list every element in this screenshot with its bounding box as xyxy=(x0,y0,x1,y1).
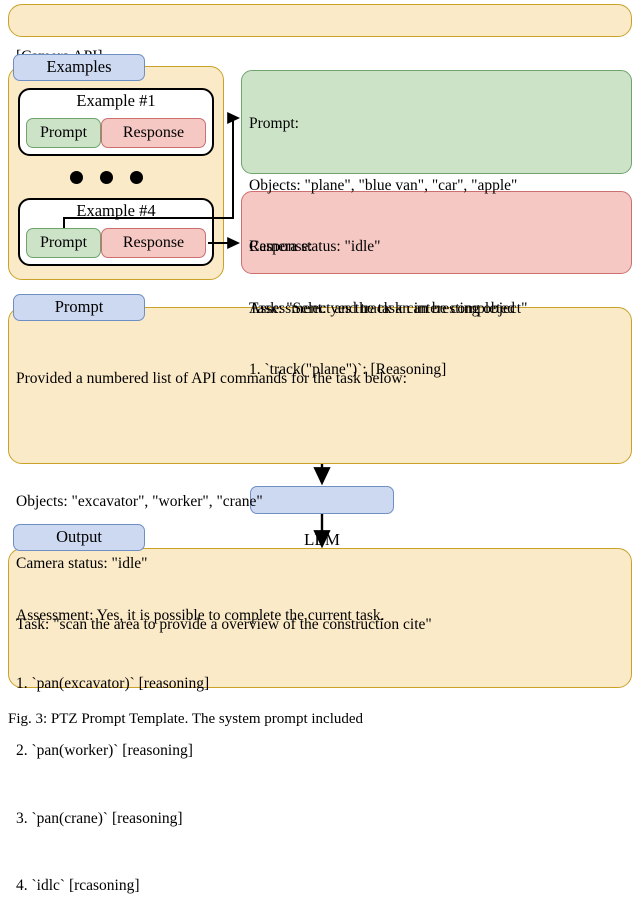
response-line: Response: xyxy=(249,237,629,258)
llm-label-wrap: LLM xyxy=(250,489,394,571)
example-4-response-label: Response xyxy=(123,234,184,252)
examples-tab-label: Examples xyxy=(46,59,111,76)
example-4-prompt-label: Prompt xyxy=(40,234,87,252)
output-line: 2. `pan(worker)` [reasoning] xyxy=(16,740,626,763)
example-4-prompt-chip[interactable]: Prompt xyxy=(26,228,101,258)
response-line: Assessment: yes the task can be complete… xyxy=(249,299,629,320)
prompt-body-line: Provided a numbered list of API commands… xyxy=(16,369,626,390)
ellipsis-dot xyxy=(130,171,143,184)
prompt-tab-label: Prompt xyxy=(55,299,104,316)
example-4-title: Example #4 xyxy=(18,201,214,221)
output-line: Assessment: Yes, it is possible to compl… xyxy=(16,605,626,628)
output-body-text: Assessment: Yes, it is possible to compl… xyxy=(16,560,626,920)
example-1-response-chip[interactable]: Response xyxy=(101,118,206,148)
prompt-line: Prompt: xyxy=(249,114,629,135)
example-4-response-chip[interactable]: Response xyxy=(101,228,206,258)
output-line: 4. `idlc` [rcasoning] xyxy=(16,875,626,898)
output-tab-label: Output xyxy=(56,529,102,546)
prompt-line: Objects: "plane", "blue van", "car", "ap… xyxy=(249,176,629,197)
llm-label: LLM xyxy=(250,530,394,551)
prompt-body-line-blank xyxy=(16,431,626,452)
output-tab[interactable]: Output xyxy=(13,524,145,551)
output-line: 1. `pan(excavator)` [reasoning] xyxy=(16,673,626,696)
example-1-response-label: Response xyxy=(123,124,184,142)
examples-tab[interactable]: Examples xyxy=(13,54,145,81)
output-line: 3. `pan(crane)` [reasoning] xyxy=(16,808,626,831)
example-1-title: Example #1 xyxy=(18,91,214,111)
examples-ellipsis xyxy=(70,171,143,184)
example-1-prompt-chip[interactable]: Prompt xyxy=(26,118,101,148)
ellipsis-dot xyxy=(70,171,83,184)
prompt-tab[interactable]: Prompt xyxy=(13,294,145,321)
ellipsis-dot xyxy=(100,171,113,184)
example-1-prompt-label: Prompt xyxy=(40,124,87,142)
